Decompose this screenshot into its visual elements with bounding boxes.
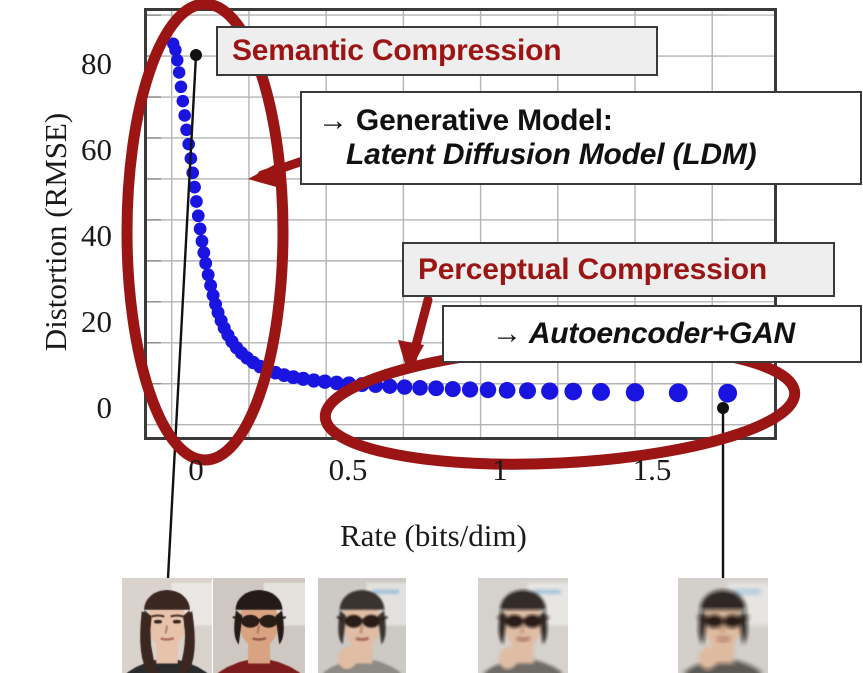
x-tick-label-0-5: 0.5 [303,452,393,488]
callout-semantic-compression: Semantic Compression [216,26,658,76]
face-thumb-3 [318,578,406,673]
figure-root: Distortion (RMSE) Rate (bits/dim) 80 60 … [0,0,863,673]
x-axis-label: Rate (bits/dim) [340,518,527,554]
callout-perceptual-compression: Perceptual Compression [402,242,835,297]
callout-autoencoder-gan: → Autoencoder+GAN [442,305,862,363]
face-thumb-2 [213,578,305,673]
y-tick-label-0: 0 [52,390,112,426]
x-tick-label-0: 0 [151,452,241,488]
callout-generative-model: → Generative Model: Latent Diffusion Mod… [300,91,862,185]
callout-dot-low-rate [190,49,202,61]
face-thumb-4 [478,578,568,673]
callout-perceptual-title: Perceptual Compression [404,253,833,287]
callout-generative-line1: → Generative Model: [302,104,860,138]
y-tick-label-60: 60 [52,132,112,168]
face-thumb-5 [678,578,768,673]
y-tick-label-20: 20 [52,304,112,340]
callout-dot-high-rate [717,402,729,414]
callout-semantic-title: Semantic Compression [218,34,656,68]
callout-generative-line2: Latent Diffusion Model (LDM) [302,138,860,172]
x-tick-label-1-5: 1.5 [607,452,697,488]
callout-autoencoder-line1: → Autoencoder+GAN [444,317,860,351]
y-tick-label-40: 40 [52,218,112,254]
x-tick-label-1: 1 [455,452,545,488]
face-thumb-1 [122,578,212,673]
y-tick-label-80: 80 [52,46,112,82]
